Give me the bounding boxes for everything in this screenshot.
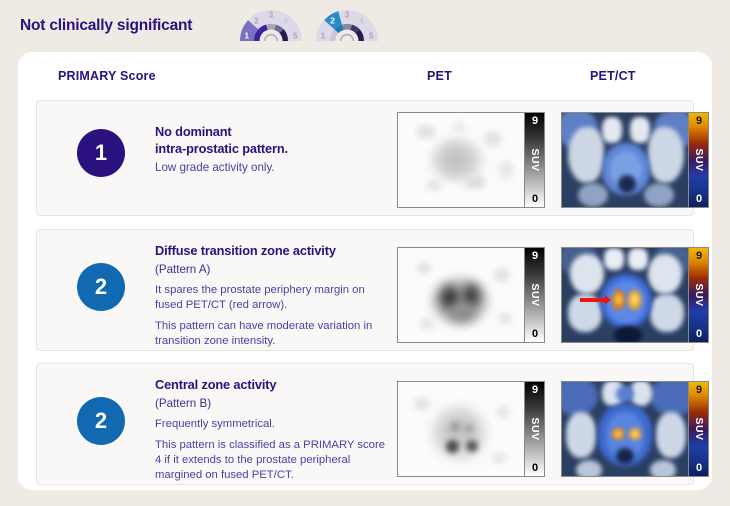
- gauge-score-2-icon: 1 2 3 4 5: [312, 1, 382, 47]
- score-description: Diffuse transition zone activity (Patter…: [155, 243, 385, 349]
- svg-text:4: 4: [283, 17, 288, 26]
- red-arrow-annotation: [580, 298, 606, 302]
- pet-image-body: [398, 382, 524, 476]
- svg-text:2: 2: [330, 16, 335, 26]
- colorbar-max-value: 9: [689, 384, 709, 396]
- pet-grayscale-film: [398, 248, 524, 342]
- score-gauges: 1 2 3 4 5 1 2 3 4 5: [236, 1, 382, 47]
- colorbar-label: SUV: [693, 417, 705, 440]
- score-badge: 1: [77, 129, 125, 177]
- svg-text:5: 5: [369, 32, 374, 41]
- pet-image-row-2[interactable]: 9 SUV 0: [397, 247, 545, 343]
- svg-text:2: 2: [254, 17, 259, 26]
- petct-image-row-1[interactable]: 9 SUV 0: [561, 112, 709, 208]
- colorbar-label: SUV: [693, 148, 705, 171]
- svg-text:4: 4: [359, 17, 364, 26]
- score-title-line2: intra-prostatic pattern.: [155, 141, 385, 158]
- svg-text:1: 1: [244, 31, 249, 41]
- pet-grayscale-film: [398, 113, 524, 207]
- pet-image-row-3[interactable]: 9 SUV 0: [397, 381, 545, 477]
- petct-suv-colorbar: 9 SUV 0: [688, 382, 708, 476]
- score-title: Diffuse transition zone activity: [155, 243, 385, 260]
- pet-suv-colorbar: 9 SUV 0: [524, 248, 544, 342]
- score-pattern-label: (Pattern B): [155, 396, 385, 411]
- column-header-pet: PET: [427, 69, 452, 83]
- column-header-primary-score: PRIMARY Score: [58, 69, 156, 83]
- score-description: Central zone activity (Pattern B) Freque…: [155, 377, 385, 483]
- petct-suv-colorbar: 9 SUV 0: [688, 248, 708, 342]
- score-description: No dominant intra-prostatic pattern. Low…: [155, 124, 385, 176]
- petct-suv-colorbar: 9 SUV 0: [688, 113, 708, 207]
- svg-text:1: 1: [321, 32, 326, 41]
- colorbar-label: SUV: [529, 417, 541, 440]
- pet-image-row-1[interactable]: 9 SUV 0: [397, 112, 545, 208]
- score-subtitle: Low grade activity only.: [155, 160, 385, 175]
- score-body-text-2: This pattern is classified as a PRIMARY …: [155, 438, 385, 483]
- column-header-row: PRIMARY Score PET PET/CT: [18, 52, 712, 92]
- score-table-panel: PRIMARY Score PET PET/CT 1 No dominant i…: [18, 52, 712, 490]
- svg-text:5: 5: [293, 32, 298, 41]
- colorbar-min-value: 0: [525, 462, 545, 474]
- petct-image-body: [562, 113, 688, 207]
- colorbar-max-value: 9: [689, 115, 709, 127]
- pet-grayscale-film: [398, 382, 524, 476]
- petct-fused-film: [562, 382, 688, 476]
- colorbar-label: SUV: [693, 283, 705, 306]
- pet-image-body: [398, 113, 524, 207]
- petct-image-row-2[interactable]: 9 SUV 0: [561, 247, 709, 343]
- svg-text:3: 3: [269, 11, 274, 20]
- score-pattern-label: (Pattern A): [155, 262, 385, 277]
- score-row-1[interactable]: 1 No dominant intra-prostatic pattern. L…: [36, 100, 694, 216]
- score-row-2[interactable]: 2 Diffuse transition zone activity (Patt…: [36, 229, 694, 351]
- pet-suv-colorbar: 9 SUV 0: [524, 113, 544, 207]
- colorbar-min-value: 0: [689, 193, 709, 205]
- page-title: Not clinically significant: [20, 17, 192, 35]
- score-body-text-1: It spares the prostate periphery margin …: [155, 283, 385, 313]
- svg-text:3: 3: [345, 11, 350, 20]
- petct-fused-film: [562, 248, 688, 342]
- colorbar-max-value: 9: [525, 115, 545, 127]
- petct-image-body: [562, 382, 688, 476]
- petct-image-body: [562, 248, 688, 342]
- petct-fused-film: [562, 113, 688, 207]
- colorbar-max-value: 9: [525, 250, 545, 262]
- score-body-text-1: Frequently symmetrical.: [155, 417, 385, 432]
- gauge-score-1-icon: 1 2 3 4 5: [236, 1, 306, 47]
- score-row-3[interactable]: 2 Central zone activity (Pattern B) Freq…: [36, 363, 694, 485]
- colorbar-label: SUV: [529, 148, 541, 171]
- score-badge: 2: [77, 397, 125, 445]
- score-title-line1: No dominant: [155, 124, 385, 141]
- colorbar-max-value: 9: [689, 250, 709, 262]
- score-title: Central zone activity: [155, 377, 385, 394]
- pet-image-body: [398, 248, 524, 342]
- colorbar-min-value: 0: [689, 462, 709, 474]
- colorbar-min-value: 0: [525, 193, 545, 205]
- score-badge: 2: [77, 263, 125, 311]
- petct-image-row-3[interactable]: 9 SUV 0: [561, 381, 709, 477]
- score-body-text-2: This pattern can have moderate variation…: [155, 319, 385, 349]
- pet-suv-colorbar: 9 SUV 0: [524, 382, 544, 476]
- colorbar-min-value: 0: [525, 328, 545, 340]
- colorbar-min-value: 0: [689, 328, 709, 340]
- column-header-petct: PET/CT: [590, 69, 636, 83]
- colorbar-max-value: 9: [525, 384, 545, 396]
- page-header: Not clinically significant 1 2 3 4 5: [0, 0, 730, 52]
- colorbar-label: SUV: [529, 283, 541, 306]
